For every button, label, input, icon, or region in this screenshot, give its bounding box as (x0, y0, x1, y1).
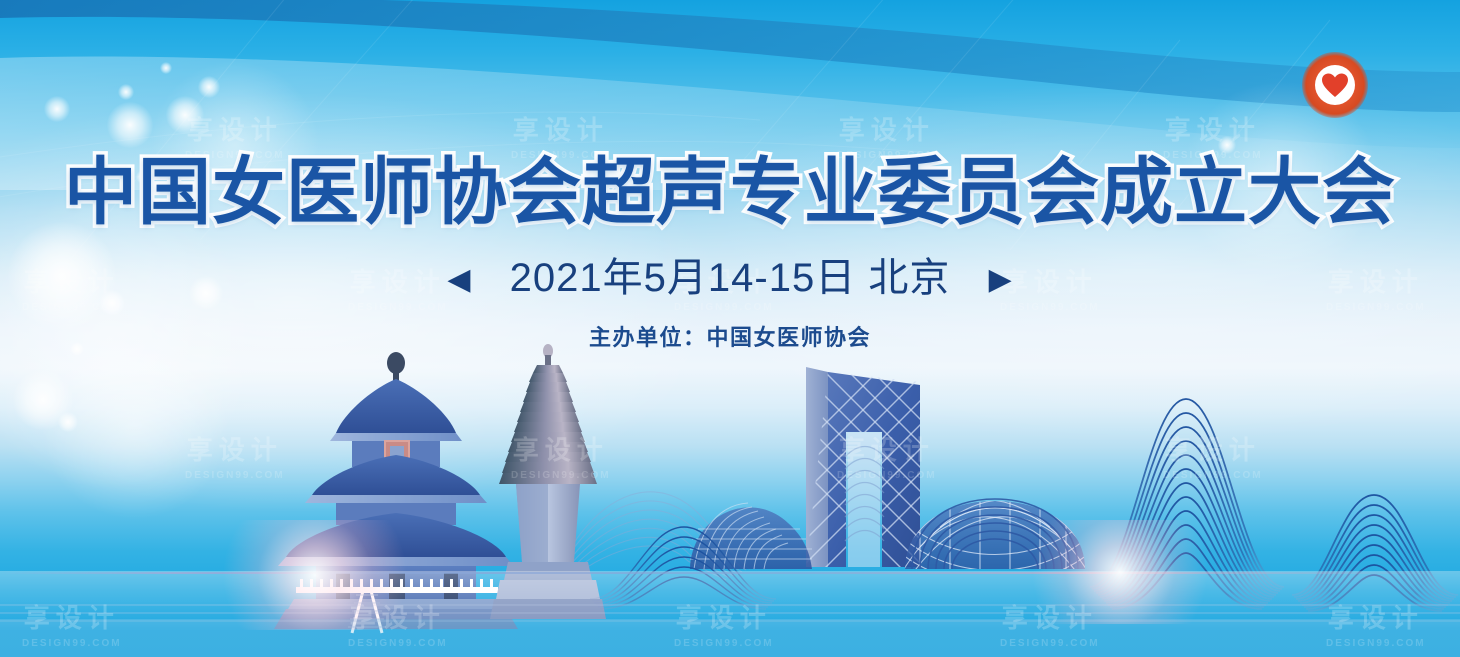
organizer-line: 主办单位：中国女医师协会 (0, 327, 1460, 349)
watermark-sub-text: DESIGN99.COM (22, 302, 122, 313)
watermark-main-text: 享设计 (1000, 598, 1100, 635)
watermark: 享设计DESIGN99.COM (837, 430, 937, 481)
page-title: 中国女医师协会超声专业委员会成立大会 (0, 156, 1460, 229)
watermark: 享设计DESIGN99.COM (1000, 598, 1100, 649)
watermark-main-text: 享设计 (837, 430, 937, 467)
watermark: 享设计DESIGN99.COM (348, 598, 448, 649)
watermark-sub-text: DESIGN99.COM (674, 638, 774, 649)
watermark-sub-text: DESIGN99.COM (1000, 638, 1100, 649)
watermark: 享设计DESIGN99.COM (22, 598, 122, 649)
watermark-main-text: 享设计 (185, 430, 285, 467)
watermark-main-text: 享设计 (511, 110, 611, 147)
bokeh-dot (166, 96, 204, 134)
watermark: 享设计DESIGN99.COM (674, 598, 774, 649)
watermark-sub-text: DESIGN99.COM (1326, 302, 1426, 313)
watermark: 享设计DESIGN99.COM (185, 430, 285, 481)
watermark-sub-text: DESIGN99.COM (674, 302, 774, 313)
watermark-sub-text: DESIGN99.COM (348, 302, 448, 313)
watermark-main-text: 享设计 (348, 598, 448, 635)
watermark-main-text: 享设计 (22, 598, 122, 635)
water-cube-block (690, 503, 812, 569)
light-flare-right (1010, 520, 1230, 624)
watermark-main-text: 享设计 (837, 110, 937, 147)
bokeh-dot (58, 412, 78, 432)
watermark-sub-text: DESIGN99.COM (1326, 638, 1426, 649)
horizon-line (0, 572, 1460, 574)
cctv-headquarters (790, 337, 960, 627)
heart-medal-logo[interactable] (1300, 50, 1370, 120)
birds-nest-stadium (890, 485, 1100, 593)
sound-wave-curves (590, 399, 1458, 611)
watermark: 享设计DESIGN99.COM (511, 430, 611, 481)
bokeh-dot (118, 84, 134, 100)
watermark-sub-text: DESIGN99.COM (348, 638, 448, 649)
light-flare-left (200, 520, 430, 630)
bokeh-dot (107, 102, 153, 148)
light-haze (40, 330, 230, 520)
watermark-sub-text: DESIGN99.COM (185, 470, 285, 481)
watermark-main-text: 享设计 (185, 110, 285, 147)
watermark-main-text: 享设计 (1163, 110, 1263, 147)
watermark: 享设计DESIGN99.COM (1163, 430, 1263, 481)
watermark-sub-text: DESIGN99.COM (837, 470, 937, 481)
watermark-sub-text: DESIGN99.COM (1000, 302, 1100, 313)
bokeh-dot (44, 96, 70, 122)
watermark-sub-text: DESIGN99.COM (1163, 470, 1263, 481)
conference-poster: 享设计DESIGN99.COM享设计DESIGN99.COM享设计DESIGN9… (0, 0, 1460, 657)
date-location-text: 2021年5月14-15日 北京 (510, 256, 951, 300)
beijing-skyline-illustration (0, 337, 1460, 657)
watermark-main-text: 享设计 (511, 430, 611, 467)
bokeh-dot (13, 370, 73, 430)
watermark: 享设计DESIGN99.COM (1326, 598, 1426, 649)
bokeh-dot (160, 62, 172, 74)
bokeh-dot (198, 76, 220, 98)
watermark-main-text: 享设计 (1163, 430, 1263, 467)
left-arrow-icon: ◀ (447, 263, 471, 296)
right-arrow-icon: ▶ (989, 263, 1013, 296)
watermark-sub-text: DESIGN99.COM (22, 638, 122, 649)
watermark-main-text: 享设计 (1326, 598, 1426, 635)
watermark-sub-text: DESIGN99.COM (511, 470, 611, 481)
dense-eave-pagoda (490, 344, 606, 619)
event-date-location: ◀ 2021年5月14-15日 北京 ▶ (0, 258, 1460, 298)
temple-of-heaven (274, 352, 518, 633)
watermark-main-text: 享设计 (674, 598, 774, 635)
water-reflection (0, 571, 1460, 657)
